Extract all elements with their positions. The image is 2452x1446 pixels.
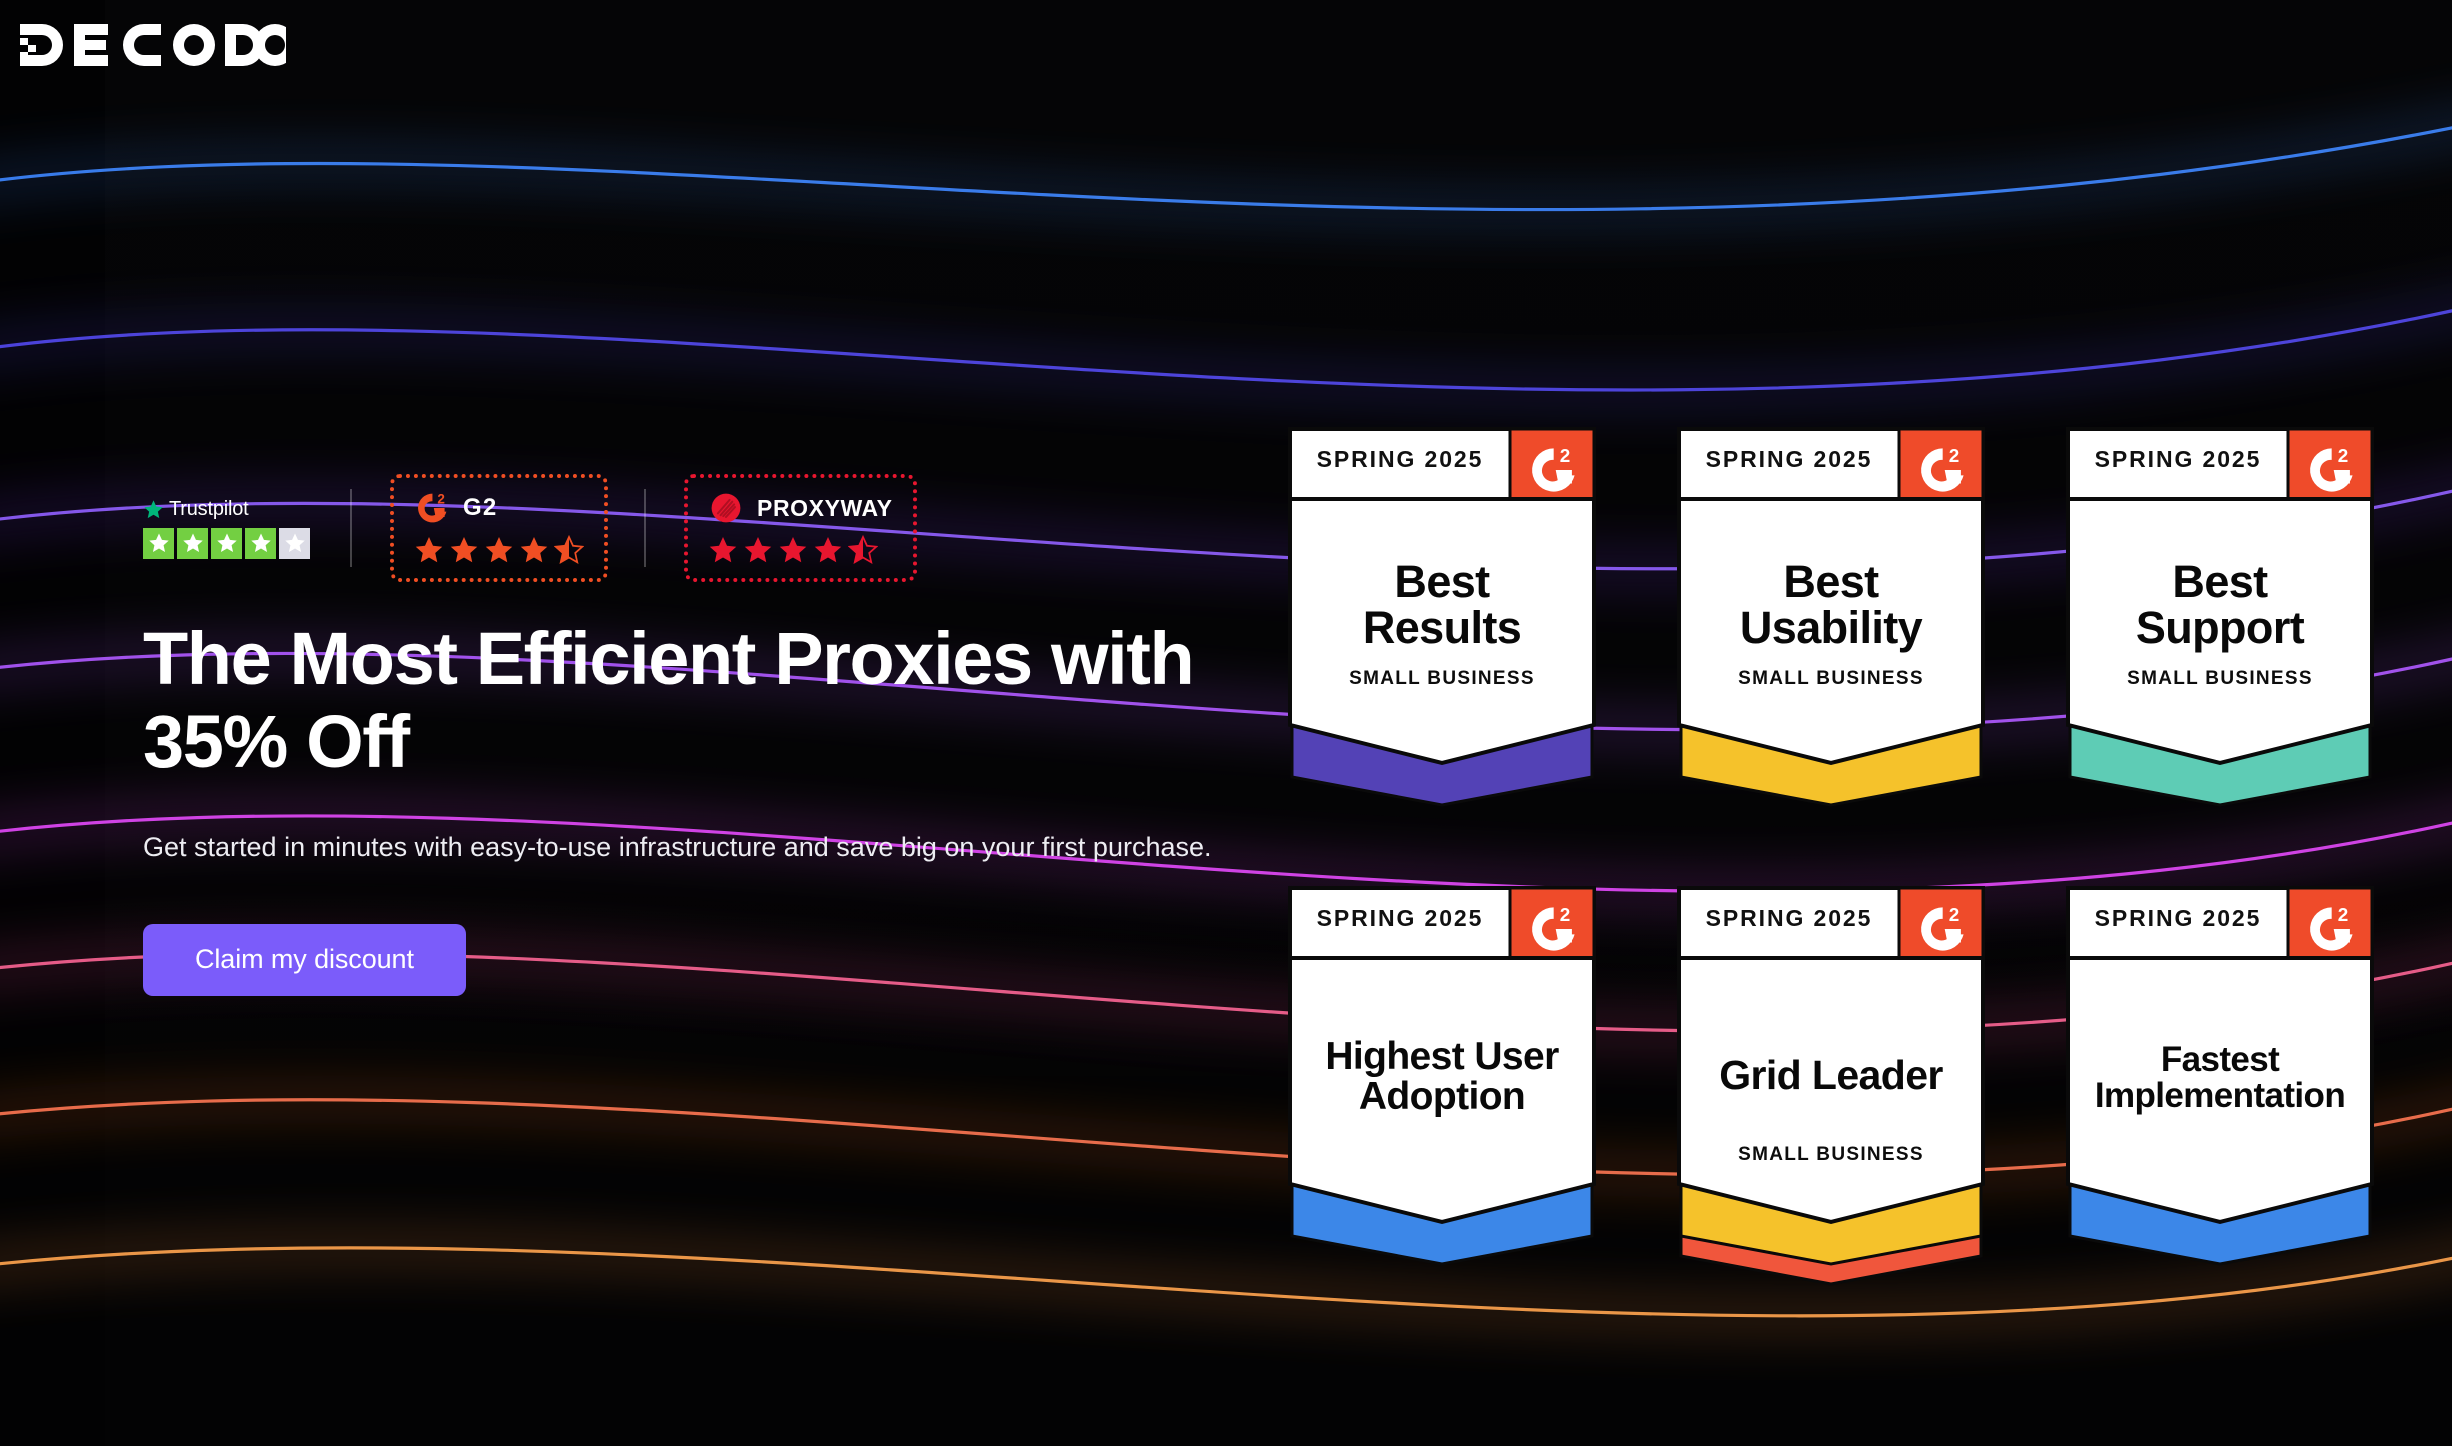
decodo-logo[interactable] (18, 22, 286, 68)
badge-shape: 2 (1675, 425, 1987, 810)
proxyway-star-4 (813, 535, 843, 565)
decodo-wordmark-icon (18, 22, 286, 68)
svg-text:2: 2 (1949, 905, 1960, 926)
badge-period: SPRING 2025 (1300, 446, 1500, 473)
trust-badges-row: Trustpilot 2 G2 (143, 480, 1253, 576)
trustpilot-stars (143, 528, 310, 559)
badge-shape: 2 (2064, 425, 2376, 810)
g2-star-4 (519, 535, 549, 565)
proxyway-header: PROXYWAY (708, 489, 893, 527)
badge-period: SPRING 2025 (1300, 905, 1500, 932)
hero-subtext: Get started in minutes with easy-to-use … (143, 828, 1218, 868)
svg-text:2: 2 (437, 492, 445, 507)
proxyway-rating[interactable]: PROXYWAY (684, 474, 917, 582)
trustpilot-star-3 (211, 528, 242, 559)
trustpilot-header: Trustpilot (143, 498, 310, 521)
svg-text:2: 2 (2338, 905, 2349, 926)
divider-2 (644, 489, 646, 567)
badge-grid-leader[interactable]: 2 SPRING 2025 Grid Leader SMALL BUSINESS (1675, 884, 1987, 1269)
trustpilot-label: Trustpilot (169, 498, 249, 521)
g2-rating[interactable]: 2 G2 (390, 474, 608, 582)
badge-shape: 2 (2064, 884, 2376, 1269)
badge-fastest-implementation[interactable]: 2 SPRING 2025 Fastest Implementation (2064, 884, 2376, 1269)
g2-star-1 (414, 535, 444, 565)
page-title: The Most Efficient Proxies with 35% Off (143, 618, 1253, 784)
hero-content: Trustpilot 2 G2 (143, 480, 1253, 996)
badge-best-usability[interactable]: 2 SPRING 2025 Best Usability SMALL BUSIN… (1675, 425, 1987, 810)
g2-star-5-half (554, 535, 584, 565)
trustpilot-star-4 (245, 528, 276, 559)
g2-label: G2 (463, 494, 497, 522)
proxyway-stars (708, 535, 893, 565)
g2-logo-icon: 2 (414, 490, 450, 526)
g2-header: 2 G2 (414, 489, 584, 527)
badge-period: SPRING 2025 (1689, 905, 1889, 932)
badge-period: SPRING 2025 (2078, 446, 2278, 473)
trustpilot-star-icon (143, 499, 164, 520)
trustpilot-star-5 (279, 528, 310, 559)
divider-1 (350, 489, 352, 567)
badge-best-support[interactable]: 2 SPRING 2025 Best Support SMALL BUSINES… (2064, 425, 2376, 810)
g2-stars (414, 535, 584, 565)
svg-text:2: 2 (1560, 905, 1571, 926)
badge-highest-user-adoption[interactable]: 2 SPRING 2025 Highest User Adoption (1286, 884, 1598, 1269)
proxyway-star-3 (778, 535, 808, 565)
badge-shape: 2 (1675, 884, 1987, 1269)
trustpilot-star-1 (143, 528, 174, 559)
badge-period: SPRING 2025 (1689, 446, 1889, 473)
svg-text:2: 2 (1949, 446, 1960, 467)
badge-period: SPRING 2025 (2078, 905, 2278, 932)
proxyway-label: PROXYWAY (757, 495, 893, 522)
claim-discount-button[interactable]: Claim my discount (143, 924, 466, 996)
proxyway-star-1 (708, 535, 738, 565)
svg-text:2: 2 (2338, 446, 2349, 467)
proxyway-star-5-half (848, 535, 878, 565)
landing-page: Trustpilot 2 G2 (0, 0, 2452, 1446)
proxyway-star-2 (743, 535, 773, 565)
svg-text:2: 2 (1560, 446, 1571, 467)
g2-star-3 (484, 535, 514, 565)
proxyway-logo-icon (708, 490, 744, 526)
g2-star-2 (449, 535, 479, 565)
trustpilot-rating[interactable]: Trustpilot (143, 498, 350, 559)
trustpilot-star-2 (177, 528, 208, 559)
g2-badge-grid: 2 SPRING 2025 Best Results SMALL BUSINES… (1286, 425, 2376, 1269)
badge-best-results[interactable]: 2 SPRING 2025 Best Results SMALL BUSINES… (1286, 425, 1598, 810)
badge-shape: 2 (1286, 425, 1598, 810)
badge-shape: 2 (1286, 884, 1598, 1269)
